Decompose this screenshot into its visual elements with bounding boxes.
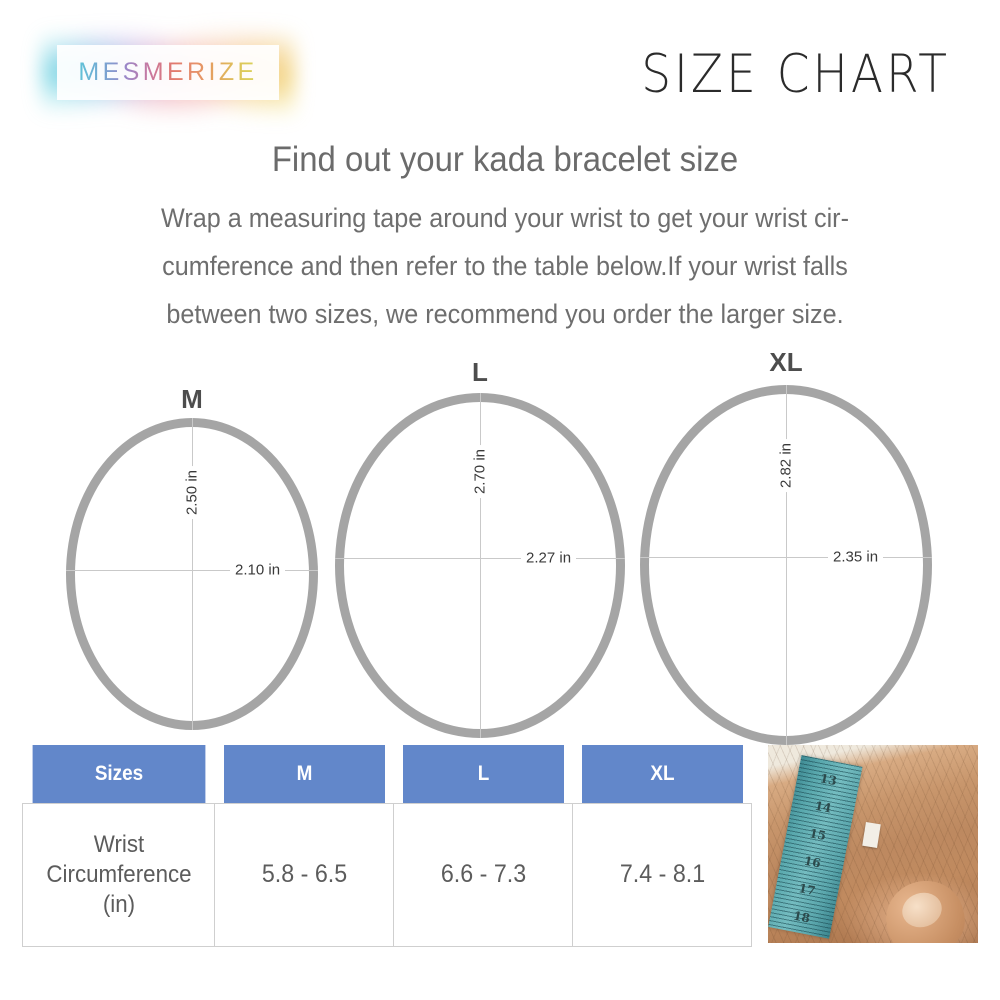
table-header-xl: XL <box>581 745 742 804</box>
wrist-measurement-photo: 13 14 15 16 17 18 <box>768 745 978 943</box>
table-row: Wrist Circumference (in) 5.8 - 6.5 6.6 -… <box>23 804 752 947</box>
row-label-wrist-circumference: Wrist Circumference (in) <box>29 804 208 947</box>
brand-logo: MESMERIZE <box>57 45 279 100</box>
oval-axis-horizontal-l <box>335 558 625 559</box>
oval-height-label-xl: 2.82 in <box>778 439 795 492</box>
oval-diagram-l: L 2.70 in 2.27 in <box>335 393 625 738</box>
oval-width-label-m: 2.10 in <box>230 562 285 579</box>
intro-body: Wrap a measuring tape around your wrist … <box>73 194 938 339</box>
cell-wrist-circumference-m: 5.8 - 6.5 <box>221 804 387 947</box>
oval-diagram-m: M 2.50 in 2.10 in <box>66 418 318 730</box>
table-header-l: L <box>402 745 563 804</box>
oval-label-l: L <box>472 357 488 388</box>
cell-wrist-circumference-l: 6.6 - 7.3 <box>400 804 566 947</box>
row-label-line-2: Circumference <box>31 860 207 890</box>
row-label-line-3: (in) <box>31 890 207 920</box>
size-table: Sizes M L XL Wrist Circumference (in) 5.… <box>22 745 752 947</box>
row-label-line-1: Wrist <box>31 830 207 860</box>
oval-height-label-m: 2.50 in <box>184 466 201 519</box>
oval-axis-horizontal-xl <box>640 557 932 558</box>
oval-diagrams: M 2.50 in 2.10 in L 2.70 in 2.27 in XL 2… <box>0 340 1000 740</box>
oval-width-label-xl: 2.35 in <box>828 549 883 566</box>
table-header-m: M <box>223 745 384 804</box>
oval-width-label-l: 2.27 in <box>521 550 576 567</box>
oval-label-m: M <box>181 384 203 415</box>
intro-heading: Find out your kada bracelet size <box>77 140 932 181</box>
oval-diagram-xl: XL 2.82 in 2.35 in <box>640 385 932 745</box>
intro-line-3: between two sizes, we recommend you orde… <box>73 290 938 338</box>
size-chart-page: MESMERIZE SIZE CHART Find out your kada … <box>0 0 1000 1000</box>
cell-wrist-circumference-xl: 7.4 - 8.1 <box>579 804 745 947</box>
oval-axis-vertical-m <box>192 418 193 730</box>
oval-height-label-l: 2.70 in <box>472 445 489 498</box>
intro-line-2: cumference and then refer to the table b… <box>73 242 938 290</box>
table-header-row: Sizes M L XL <box>23 745 752 804</box>
intro-line-1: Wrap a measuring tape around your wrist … <box>73 194 938 242</box>
page-title: SIZE CHART <box>641 44 950 106</box>
intro-block: Find out your kada bracelet size Wrap a … <box>50 140 960 338</box>
oval-label-xl: XL <box>769 347 802 378</box>
table-header-sizes: Sizes <box>32 745 205 804</box>
logo-plate: MESMERIZE <box>57 45 279 100</box>
brand-wordmark: MESMERIZE <box>78 58 257 87</box>
